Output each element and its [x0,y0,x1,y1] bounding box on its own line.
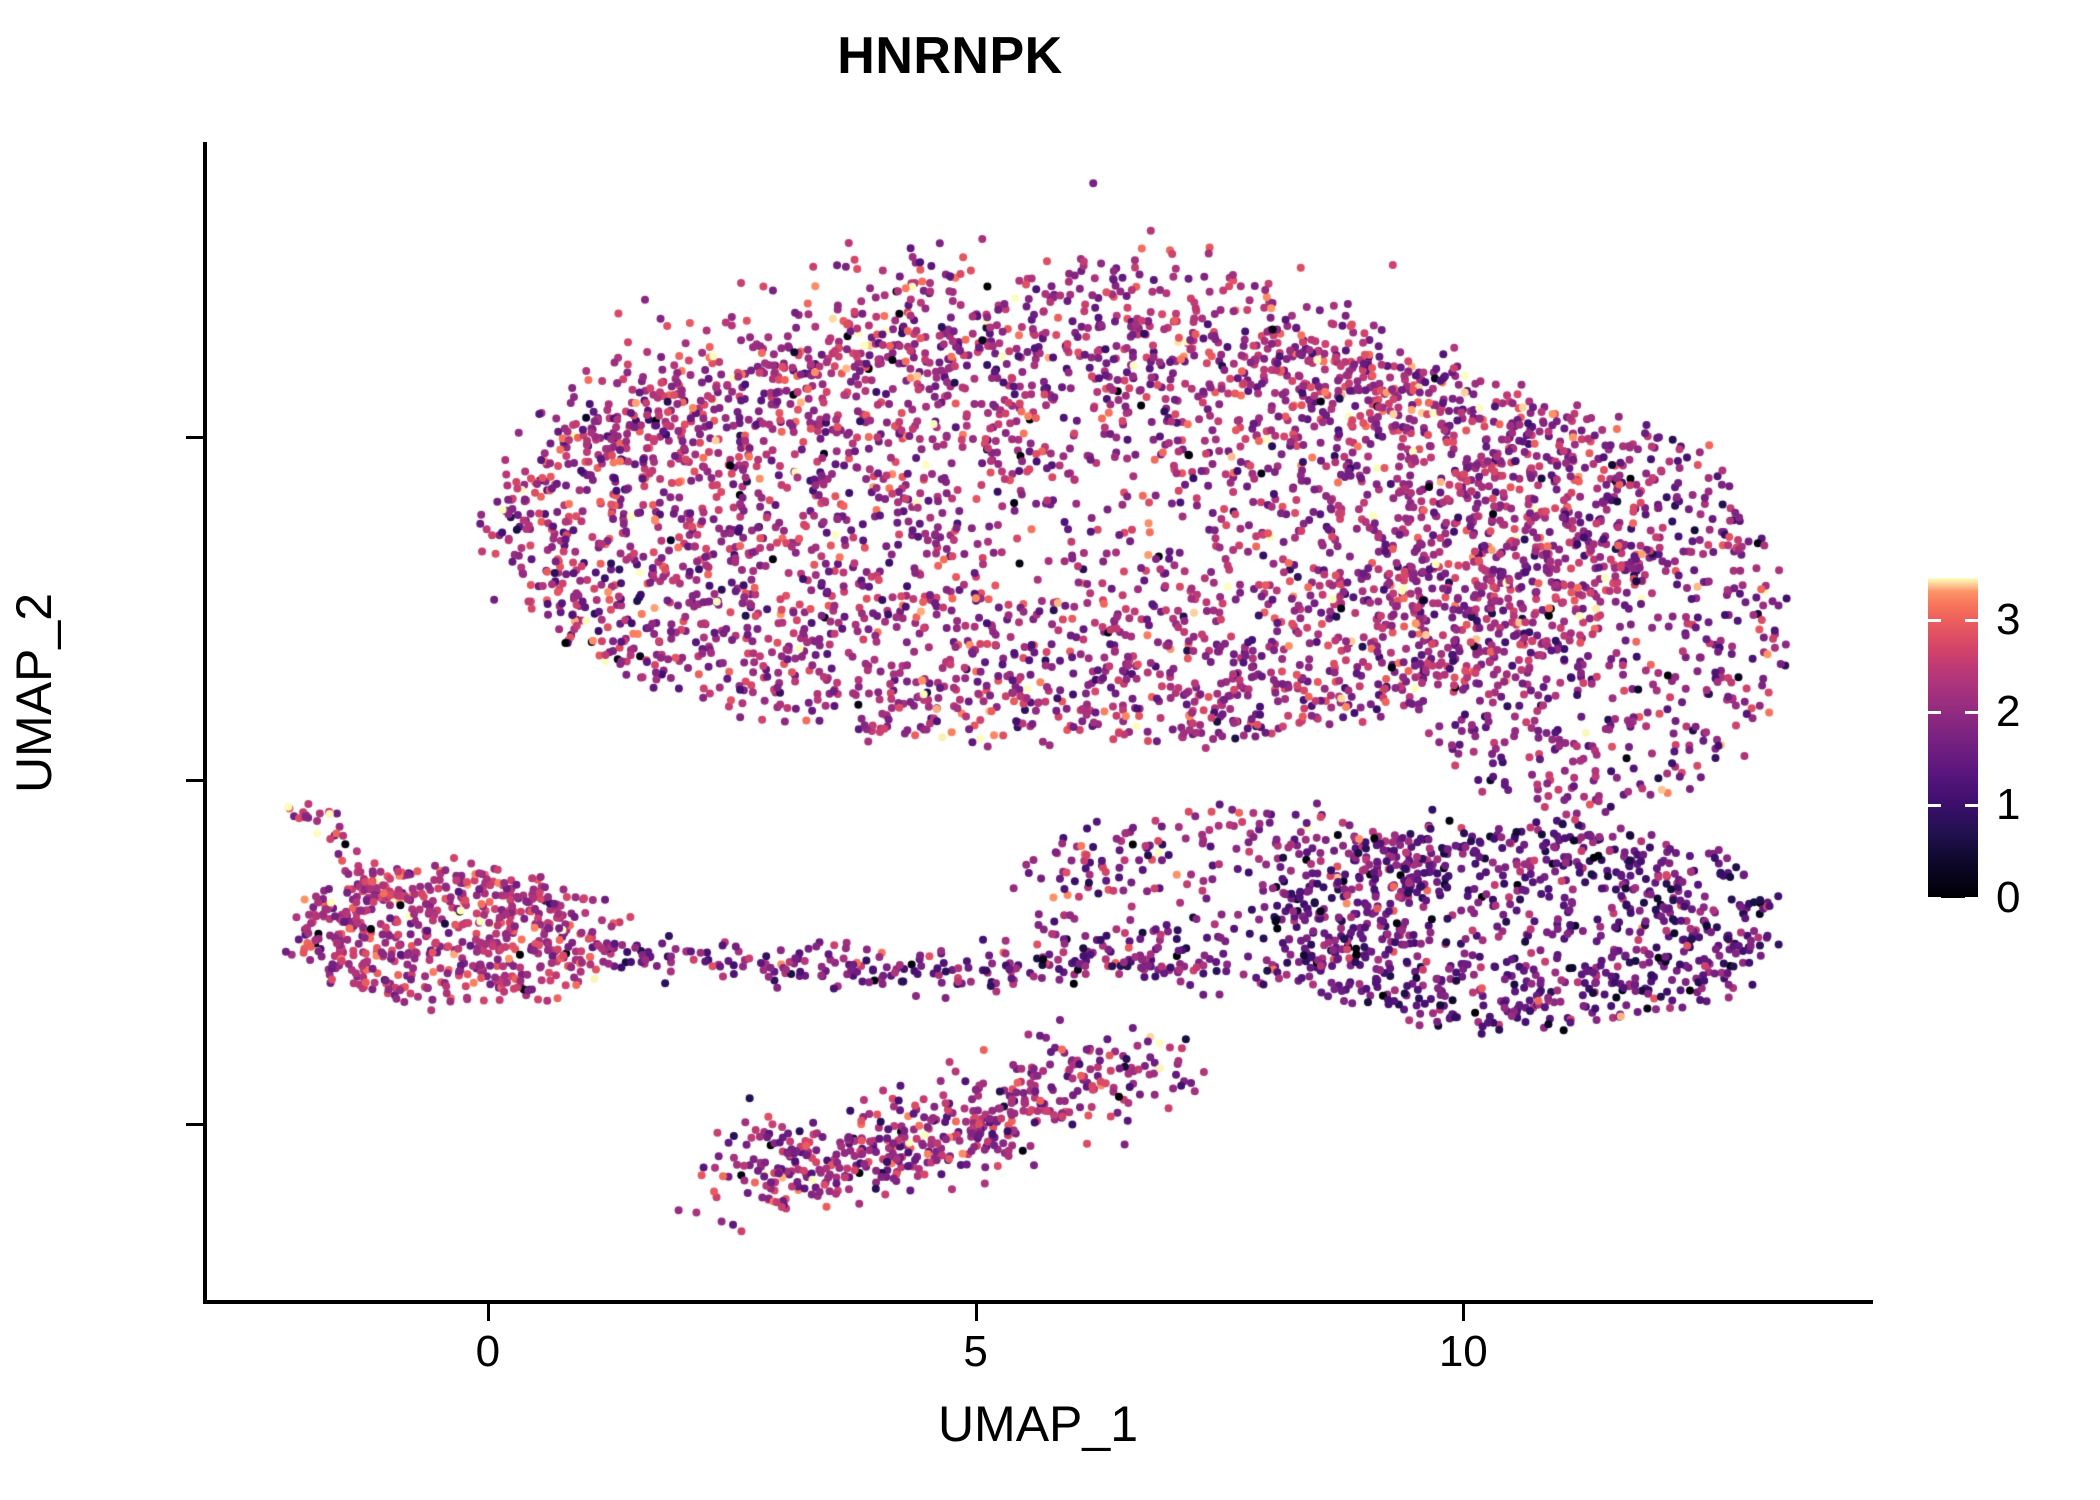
colorbar-tick-mark [1965,619,1978,622]
colorbar-tick-mark [1928,619,1941,622]
colorbar-tick-mark [1928,897,1941,900]
x-axis-title: UMAP_1 [203,1395,1873,1453]
colorbar-tick-mark [1965,711,1978,714]
x-tick-mark [487,1304,490,1321]
x-tick-label: 0 [388,1327,588,1377]
colorbar-tick-mark [1928,711,1941,714]
scatter-plot-area [205,142,1873,1302]
colorbar-tick-mark [1928,804,1941,807]
colorbar-tick-label: 2 [1996,687,2020,737]
colorbar-tick-mark [1965,804,1978,807]
colorbar-tick-label: 0 [1996,873,2020,923]
colorbar-gradient [1928,578,1978,898]
umap-feature-plot: HNRNPK 0510 0510 UMAP_1 UMAP_2 0123 [0,0,2100,1500]
y-tick-mark [186,779,203,782]
colorbar-tick-label: 3 [1996,595,2020,645]
y-tick-mark [186,1123,203,1126]
x-tick-label: 10 [1363,1327,1563,1377]
x-tick-mark [1462,1304,1465,1321]
colorbar-tick-mark [1965,897,1978,900]
colorbar-tick-label: 1 [1996,780,2020,830]
colorbar-legend [1928,578,1978,898]
y-axis-title: UMAP_2 [5,113,63,1273]
x-tick-mark [975,1304,978,1321]
page-title: HNRNPK [0,26,1900,86]
x-tick-label: 5 [876,1327,1076,1377]
y-tick-mark [186,436,203,439]
